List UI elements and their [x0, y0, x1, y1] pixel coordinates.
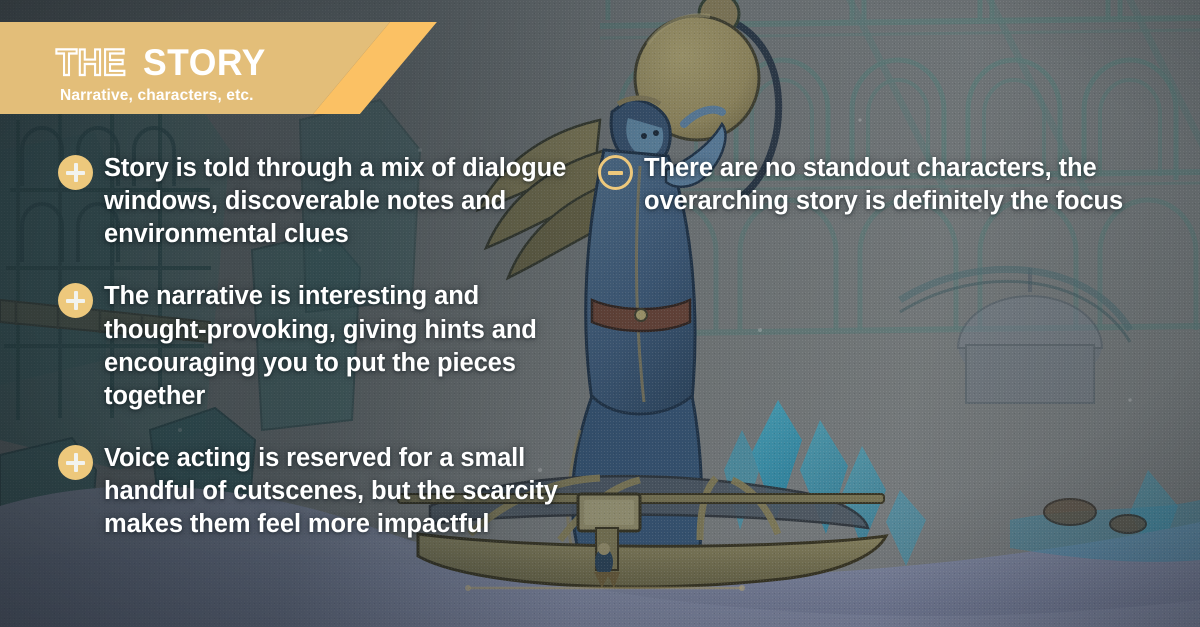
- list-item: Voice acting is reserved for a small han…: [58, 442, 568, 541]
- pro-text-3: Voice acting is reserved for a small han…: [104, 442, 568, 541]
- pro-text-1: Story is told through a mix of dialogue …: [104, 152, 568, 251]
- cons-column: There are no standout characters, the ov…: [598, 152, 1168, 218]
- pros-column: Story is told through a mix of dialogue …: [58, 152, 568, 541]
- plus-circle-icon: [58, 283, 93, 318]
- con-text-1: There are no standout characters, the ov…: [644, 152, 1168, 218]
- infographic-slide: THE STORY Narrative, characters, etc. St…: [0, 0, 1200, 627]
- list-item: There are no standout characters, the ov…: [598, 152, 1168, 218]
- list-item: The narrative is interesting and thought…: [58, 280, 568, 413]
- content-columns: Story is told through a mix of dialogue …: [0, 0, 1200, 627]
- minus-circle-icon: [598, 155, 633, 190]
- plus-circle-icon: [58, 445, 93, 480]
- pro-text-2: The narrative is interesting and thought…: [104, 280, 568, 413]
- plus-circle-icon: [58, 155, 93, 190]
- list-item: Story is told through a mix of dialogue …: [58, 152, 568, 251]
